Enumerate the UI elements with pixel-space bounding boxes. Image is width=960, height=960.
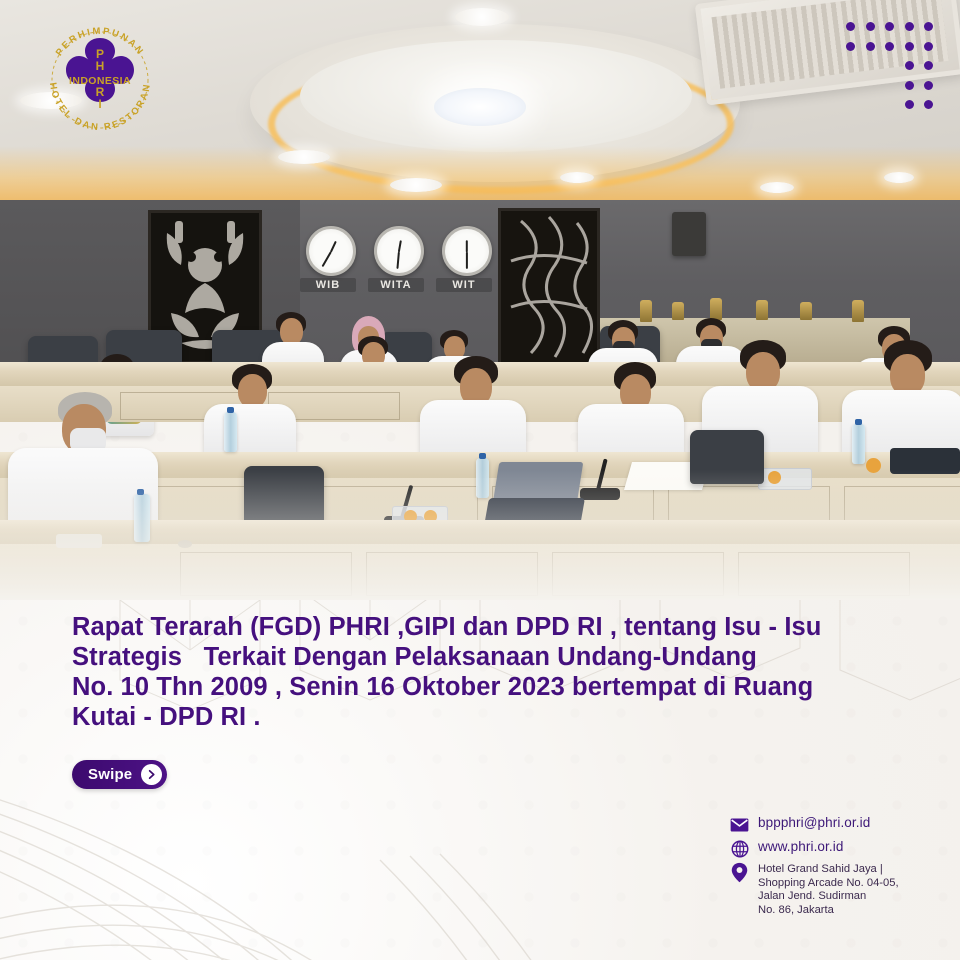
downlight [760, 182, 794, 193]
logo-letter-h: H [96, 59, 105, 73]
grid-dot [885, 22, 894, 31]
headline-line-4: Kutai - DPD RI . [72, 702, 902, 732]
contact-address-row[interactable]: Hotel Grand Sahid Jaya | Shopping Arcade… [730, 863, 955, 917]
grid-dot [924, 81, 933, 90]
phri-logo: P H R I INDONESIA PERHIMPUNAN HOTEL DAN … [36, 18, 164, 136]
headline-line-2: Strategis Terkait Dengan Pelaksanaan Und… [72, 642, 902, 672]
trophy [800, 302, 812, 320]
logo-letter-i: I [98, 97, 101, 111]
website-value: www.phri.or.id [758, 839, 843, 855]
grid-dot [866, 42, 875, 51]
ceiling-lamp [434, 88, 526, 126]
downlight [455, 8, 509, 26]
trophy [756, 300, 768, 320]
grid-dot [905, 22, 914, 31]
trophy [710, 298, 722, 320]
grid-dot [885, 42, 894, 51]
grid-dot [846, 22, 855, 31]
grid-dot [924, 61, 933, 70]
headline-line-3: No. 10 Thn 2009 , Senin 16 Oktober 2023 … [72, 672, 902, 702]
downlight [884, 172, 914, 183]
wall-clock-wita [374, 226, 424, 276]
decorative-dot-grid [846, 22, 950, 116]
contact-website-row[interactable]: www.phri.or.id [730, 839, 955, 858]
headline-line-1: Rapat Terarah (FGD) PHRI ,GIPI dan DPD R… [72, 612, 902, 642]
grid-dot [924, 42, 933, 51]
clock-label-wit: WIT [436, 278, 492, 292]
contact-block: bppphri@phri.or.id www.phri.or.id Hote [730, 815, 955, 922]
clock-label-wib: WIB [300, 278, 356, 292]
email-value: bppphri@phri.or.id [758, 815, 870, 831]
water-bottle [852, 424, 865, 464]
downlight [560, 172, 594, 183]
downlight [390, 178, 442, 192]
grid-dot [905, 61, 914, 70]
contact-email-row[interactable]: bppphri@phri.or.id [730, 815, 955, 834]
wall-speaker [672, 212, 706, 256]
globe-icon [730, 839, 749, 858]
trophy [852, 300, 864, 322]
address-line-4: No. 86, Jakarta [758, 904, 899, 918]
swipe-button[interactable]: Swipe [72, 760, 167, 789]
page-title: Rapat Terarah (FGD) PHRI ,GIPI dan DPD R… [72, 612, 902, 732]
grid-dot [846, 42, 855, 51]
grid-dot [924, 22, 933, 31]
grid-dot [905, 42, 914, 51]
photo-bottom-fade [0, 470, 960, 600]
chevron-right-icon [141, 764, 162, 785]
grid-dot [905, 81, 914, 90]
address-line-2: Shopping Arcade No. 04-05, [758, 877, 899, 891]
water-bottle [224, 412, 237, 452]
email-icon [730, 815, 749, 834]
wall-clock-wib [306, 226, 356, 276]
wall-artwork-right [498, 208, 600, 366]
downlight [278, 150, 330, 164]
address-value: Hotel Grand Sahid Jaya | Shopping Arcade… [758, 863, 899, 917]
clock-label-wita: WITA [368, 278, 424, 292]
swipe-label: Swipe [88, 766, 132, 783]
grid-dot [905, 100, 914, 109]
trophy [640, 300, 652, 322]
address-line-1: Hotel Grand Sahid Jaya | [758, 863, 899, 877]
logo-indonesia-word: INDONESIA [69, 75, 131, 87]
grid-dot [866, 22, 875, 31]
address-line-3: Jalan Jend. Sudirman [758, 890, 899, 904]
location-pin-icon [730, 863, 749, 882]
grid-dot [924, 100, 933, 109]
wall-clock-wit [442, 226, 492, 276]
trophy [672, 302, 684, 320]
post-canvas: WIB WITA WIT [0, 0, 960, 960]
